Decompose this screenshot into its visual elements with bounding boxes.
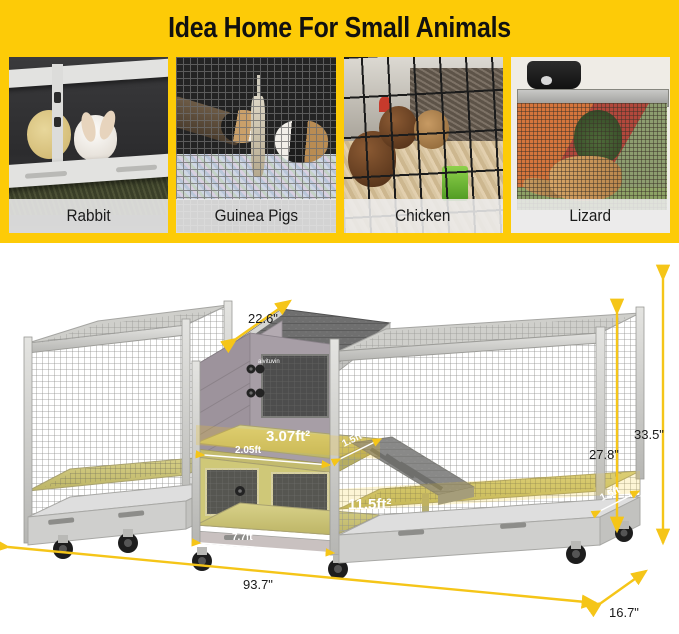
- dimension-overall-width: 93.7": [8, 547, 596, 603]
- caption-text: Lizard: [570, 206, 612, 226]
- caption-text: Chicken: [395, 206, 450, 226]
- animal-photo-strip: Rabbit Guinea Pigs: [9, 57, 670, 233]
- brand-logo: aivituvin: [258, 359, 280, 365]
- header-banner: Idea Home For Small Animals: [0, 0, 679, 243]
- photo-caption-lizard: Lizard: [511, 199, 670, 233]
- page-title: Idea Home For Small Animals: [48, 12, 632, 45]
- cabinet-height-label: 27.8": [589, 447, 619, 462]
- lower-width-label: 7.7ft: [232, 532, 253, 543]
- product-diagram: aivituvin: [0, 243, 679, 634]
- upper-width-label: 2.05ft: [235, 445, 262, 456]
- photo-caption-chicken: Chicken: [344, 199, 503, 233]
- photo-card-guinea-pigs: Guinea Pigs: [176, 57, 335, 233]
- photo-card-rabbit: Rabbit: [9, 57, 168, 233]
- lower-area-label: 11.5ft²: [348, 496, 391, 513]
- roof-depth-label: 22.6": [248, 311, 278, 326]
- caption-text: Rabbit: [67, 206, 111, 226]
- overall-height-label: 33.5": [634, 427, 664, 442]
- photo-card-lizard: Lizard: [511, 57, 670, 233]
- photo-caption-guinea-pigs: Guinea Pigs: [176, 199, 335, 233]
- dimension-overall-depth: 16.7": [601, 571, 646, 620]
- hutch-illustration: aivituvin: [0, 243, 679, 634]
- overall-depth-label: 16.7": [609, 605, 639, 620]
- photo-card-chicken: Chicken: [344, 57, 503, 233]
- infographic-page: Idea Home For Small Animals: [0, 0, 679, 634]
- heat-lamp: [527, 61, 581, 89]
- hay-ball: [27, 110, 72, 159]
- upper-area-label: 3.07ft²: [266, 428, 310, 445]
- overall-width-label: 93.7": [243, 577, 273, 592]
- photo-caption-rabbit: Rabbit: [9, 199, 168, 233]
- caption-text: Guinea Pigs: [214, 206, 297, 226]
